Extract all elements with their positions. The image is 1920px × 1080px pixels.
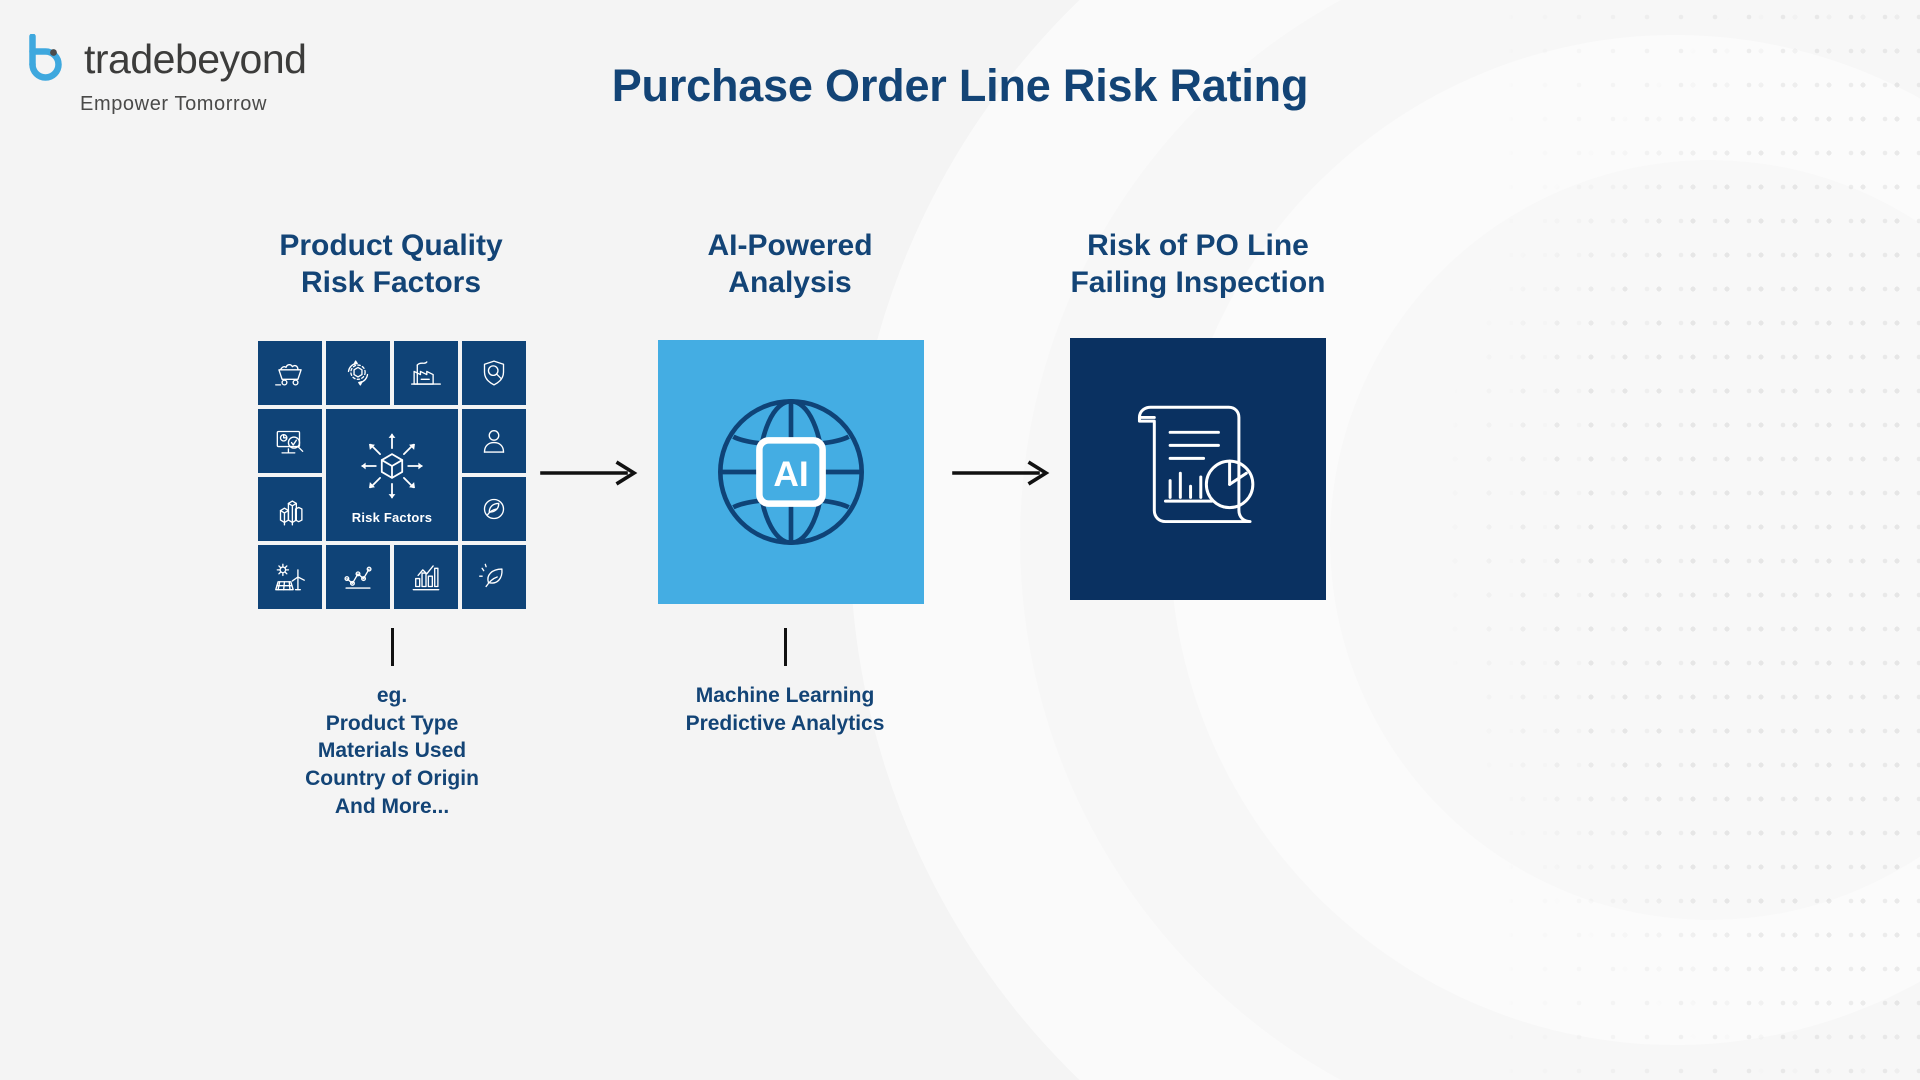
background-arc-1 (850, 0, 1920, 1080)
center-tile-label: Risk Factors (352, 510, 432, 525)
eco-leaf-globe-icon (475, 490, 513, 528)
worker-person-icon (475, 422, 513, 460)
risk-report-panel (1070, 338, 1326, 600)
ai-badge-text: AI (773, 455, 808, 494)
caption-tick-1 (391, 628, 394, 666)
caption-text-1: eg. Product Type Materials Used Country … (252, 682, 532, 821)
ai-analysis-panel: AI (658, 340, 924, 604)
gear-recycle-process-icon (339, 354, 377, 392)
caption-text-2: Machine Learning Predictive Analytics (645, 682, 925, 737)
tile-risk-factors-center: Risk Factors (326, 409, 458, 541)
column-heading-product-quality-risk-factors: Product Quality Risk Factors (206, 228, 576, 301)
report-document-pie-chart-icon (1118, 397, 1278, 542)
tile-shield-inspection-magnifier (462, 341, 526, 405)
tile-leaf-sustainability (462, 545, 526, 609)
arrow-right-icon (540, 455, 640, 491)
tile-bar-chart-growth (394, 545, 458, 609)
caption-tick-2 (784, 628, 787, 666)
tile-factory-plant (394, 341, 458, 405)
arrow-right-icon (952, 455, 1052, 491)
line-chart-trend-icon (339, 558, 377, 596)
flow-arrow-2 (952, 455, 1052, 491)
tile-mining-cart (258, 341, 322, 405)
page-title: Purchase Order Line Risk Rating (0, 60, 1920, 112)
slide-canvas: tradebeyond Empower Tomorrow Purchase Or… (0, 0, 1920, 1080)
cube-distribution-arrows-icon (349, 426, 435, 506)
bar-chart-growth-icon (407, 558, 445, 596)
flow-arrow-1 (540, 455, 640, 491)
caption-ai-powered-analysis: Machine Learning Predictive Analytics (645, 628, 925, 737)
tile-analytics-presentation-magnifier (258, 409, 322, 473)
tile-bar-blocks-3d (258, 477, 322, 541)
factory-plant-icon (407, 354, 445, 392)
mining-cart-icon (271, 354, 309, 392)
column-heading-risk-of-po-line-failing-inspection: Risk of PO Line Failing Inspection (1012, 228, 1384, 301)
bar-blocks-3d-icon (271, 490, 309, 528)
leaf-sustainability-icon (475, 558, 513, 596)
tile-gear-recycle-process (326, 341, 390, 405)
analytics-presentation-magnifier-icon (271, 422, 309, 460)
column-heading-ai-powered-analysis: AI-Powered Analysis (605, 228, 975, 301)
tile-line-chart-trend (326, 545, 390, 609)
shield-inspection-magnifier-icon (475, 354, 513, 392)
solar-wind-energy-icon (271, 558, 309, 596)
tile-eco-leaf-globe (462, 477, 526, 541)
halftone-dot-pattern-outer (1460, 0, 1920, 1080)
background-arc-4 (1330, 160, 1920, 920)
caption-product-quality-risk-factors: eg. Product Type Materials Used Country … (252, 628, 532, 821)
tile-worker-person (462, 409, 526, 473)
ai-globe-icon: AI (698, 379, 884, 565)
tile-solar-wind-energy (258, 545, 322, 609)
risk-factor-icon-grid: Risk Factors (258, 341, 526, 609)
